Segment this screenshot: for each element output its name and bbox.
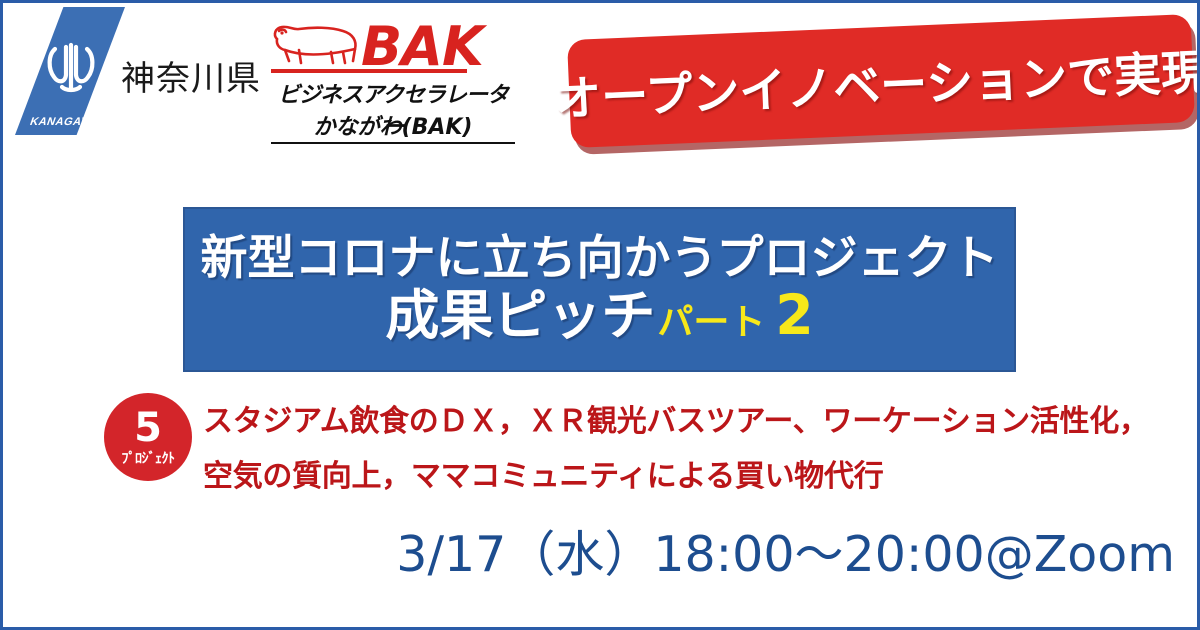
prefecture-name: 神奈川県	[121, 51, 261, 100]
event-title-part-label: パート	[657, 304, 765, 342]
bak-underline	[271, 69, 467, 73]
bak-logo-top: BAK	[269, 17, 519, 73]
bak-tapir-icon	[269, 19, 365, 71]
event-title-part-number: 2	[775, 286, 813, 344]
project-count-number: 5	[134, 409, 162, 447]
project-description-line: 空気の質向上，ママコミュニティによる買い物代行	[203, 450, 1163, 505]
kanagawa-prefecture-emblem-icon	[45, 39, 97, 95]
ribbon-label: オープンイノベーションで実現	[553, 33, 1200, 129]
kanagawa-logo: KANAGAWA	[15, 7, 125, 135]
bak-logo: BAK ビジネスアクセラレーター かながわ(BAK)	[269, 17, 519, 135]
kanagawa-wordmark: KANAGAWA	[21, 116, 109, 128]
bak-subtitle-2: かながわ(BAK)	[271, 109, 515, 141]
event-title-main: 成果ピッチ	[385, 287, 655, 344]
event-title-box: 新型コロナに立ち向かうプロジェクト 成果ピッチ パート 2	[183, 207, 1016, 372]
event-title-line2: 成果ピッチ パート 2	[385, 286, 813, 344]
project-count-label: ﾌﾟﾛｼﾞｪｸﾄ	[122, 448, 175, 468]
project-description-line: スタジアム飲食のＤＸ，ＸＲ観光バスツアー、ワーケーション活性化，	[203, 395, 1163, 450]
project-count-badge: 5 ﾌﾟﾛｼﾞｪｸﾄ	[104, 393, 192, 481]
event-poster: KANAGAWA 神奈川県 BAK ビジネスアクセラレーター かながわ(BAK	[0, 0, 1200, 630]
open-innovation-ribbon: オープンイノベーションで実現	[567, 14, 1195, 148]
project-description: スタジアム飲食のＤＸ，ＸＲ観光バスツアー、ワーケーション活性化， 空気の質向上，…	[203, 395, 1163, 505]
event-datetime: 3/17（水）18:00〜20:00@Zoom	[3, 515, 1175, 586]
event-title-line1: 新型コロナに立ち向かうプロジェクト	[200, 234, 998, 284]
